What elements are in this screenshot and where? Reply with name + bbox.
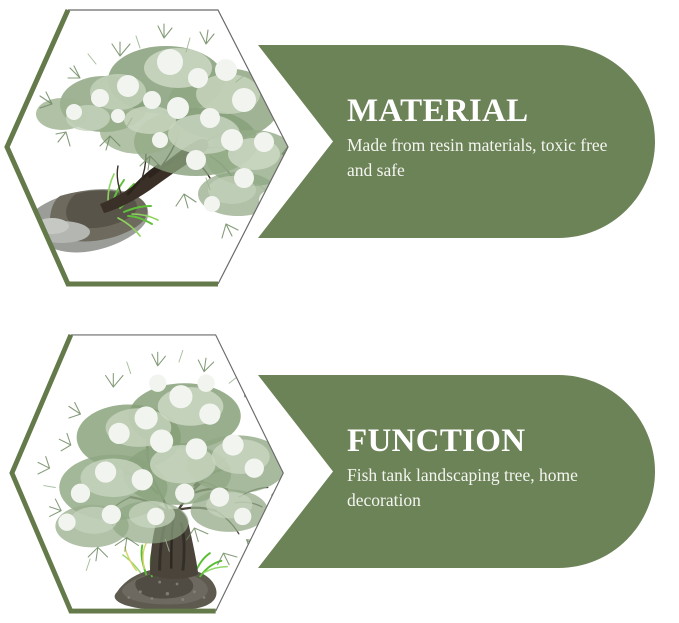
panel-title-material: MATERIAL bbox=[347, 93, 637, 129]
panel-description-function: Fish tank landscaping tree, home decorat… bbox=[347, 463, 637, 513]
banner-function: FUNCTION Fish tank landscaping tree, hom… bbox=[258, 375, 655, 568]
hexagon-outline-icon bbox=[0, 333, 300, 613]
panel-title-function: FUNCTION bbox=[347, 423, 637, 459]
panel-description-material: Made from resin materials, toxic free an… bbox=[347, 133, 637, 183]
hexagon-outline-icon bbox=[0, 8, 300, 288]
feature-panel-function: FUNCTION Fish tank landscaping tree, hom… bbox=[0, 312, 679, 623]
feature-panel-material: MATERIAL Made from resin materials, toxi… bbox=[0, 0, 679, 312]
hexagon-frame-function bbox=[0, 333, 300, 613]
hexagon-frame-material bbox=[0, 8, 300, 288]
banner-text-block-function: FUNCTION Fish tank landscaping tree, hom… bbox=[347, 423, 637, 513]
banner-material: MATERIAL Made from resin materials, toxi… bbox=[258, 45, 655, 238]
banner-text-block-material: MATERIAL Made from resin materials, toxi… bbox=[347, 93, 637, 183]
